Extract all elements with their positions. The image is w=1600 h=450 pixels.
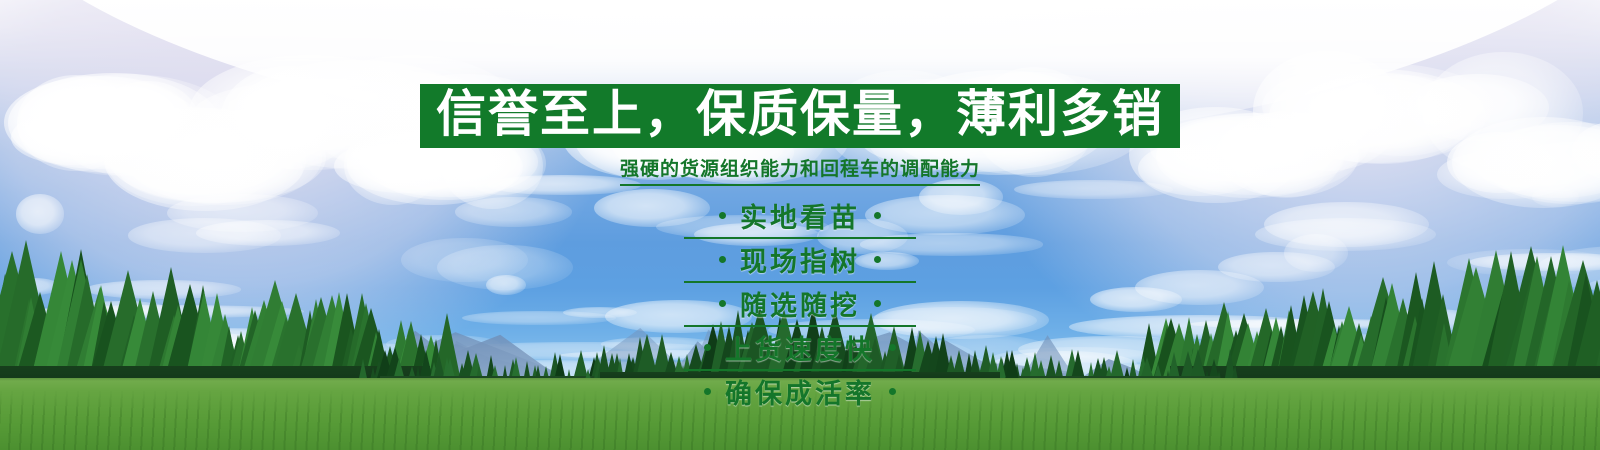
headline-text: 信誉至上，保质保量，薄利多销 [436,89,1164,139]
bullet-dot-icon [874,300,881,307]
feature-row: 实地看苗 [684,195,916,239]
feature-row: 确保成活率 [684,371,916,413]
feature-label: 随选随挖 [740,284,860,323]
feature-label: 上货速度快 [725,328,875,367]
headline-banner: 信誉至上，保质保量，薄利多销 [420,84,1180,148]
feature-label: 现场指树 [740,240,860,279]
bullet-dot-icon [889,388,896,395]
bullet-dot-icon [704,388,711,395]
bullet-dot-icon [874,212,881,219]
bullet-dot-icon [719,212,726,219]
subheadline-text: 强硬的货源组织能力和回程车的调配能力 [620,154,980,186]
bullet-dot-icon [704,344,711,351]
bullet-dot-icon [889,344,896,351]
feature-label: 确保成活率 [725,372,875,411]
bullet-dot-icon [874,256,881,263]
feature-row: 随选随挖 [684,283,916,327]
banner-content: 信誉至上，保质保量，薄利多销 强硬的货源组织能力和回程车的调配能力 实地看苗现场… [0,0,1600,450]
bullet-dot-icon [719,256,726,263]
feature-row: 上货速度快 [684,327,916,371]
feature-label: 实地看苗 [740,196,860,235]
promo-banner: 信誉至上，保质保量，薄利多销 强硬的货源组织能力和回程车的调配能力 实地看苗现场… [0,0,1600,450]
feature-row: 现场指树 [684,239,916,283]
feature-list: 实地看苗现场指树随选随挖上货速度快确保成活率 [684,195,916,413]
bullet-dot-icon [719,300,726,307]
